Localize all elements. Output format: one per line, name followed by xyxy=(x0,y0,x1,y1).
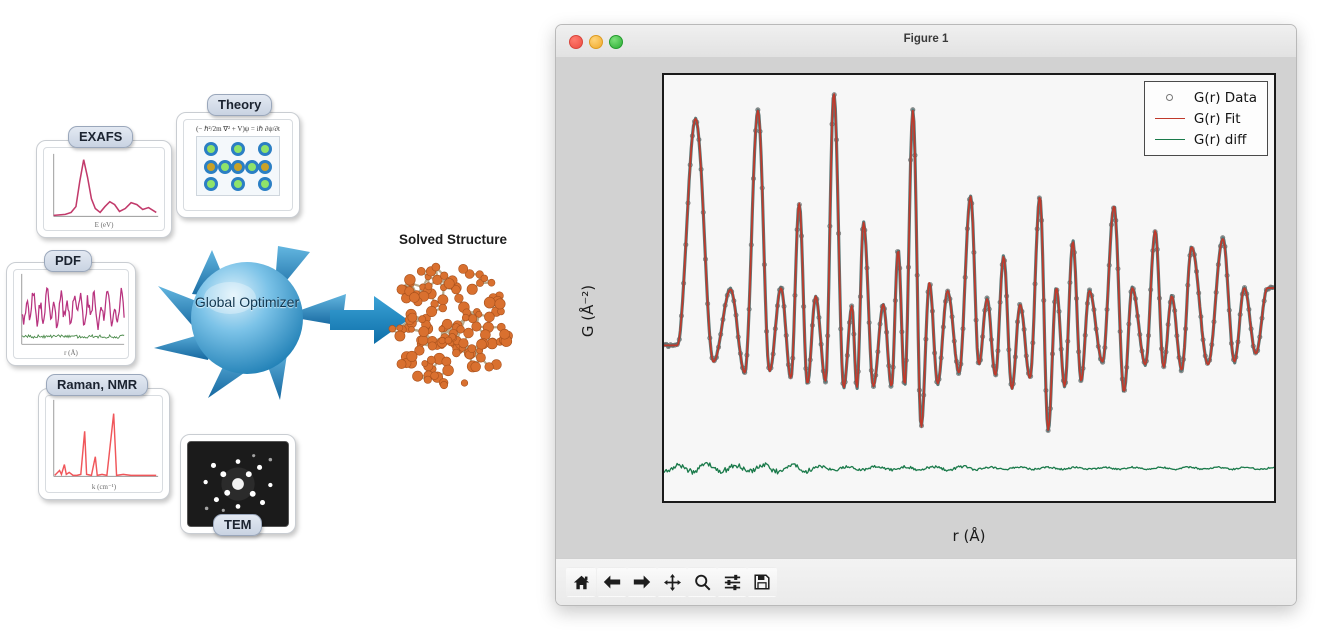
legend-item-data: G(r) Data xyxy=(1153,87,1257,108)
global-optimizer-burst: Global Optimizer xyxy=(132,190,362,440)
raman-axis-label: k (cm⁻¹) xyxy=(46,483,162,491)
window-titlebar[interactable]: Figure 1 xyxy=(556,25,1296,58)
home-icon[interactable] xyxy=(566,567,596,597)
x-tick xyxy=(697,501,698,503)
x-tick xyxy=(1027,501,1028,503)
figure-window: Figure 1 G (Å⁻²) r (Å) G(r) Data G(r) Fi… xyxy=(555,24,1297,606)
sliders-configure-icon[interactable] xyxy=(717,567,747,597)
legend-item-diff: G(r) diff xyxy=(1153,129,1257,150)
solved-structure-label: Solved Structure xyxy=(368,232,538,247)
pan-move-icon[interactable] xyxy=(657,567,687,597)
x-axis-title: r (Å) xyxy=(662,527,1276,545)
plot-axes[interactable]: G(r) Data G(r) Fit G(r) diff −6−4−202468… xyxy=(662,73,1276,503)
floppy-save-icon[interactable] xyxy=(747,567,777,597)
legend-item-fit: G(r) Fit xyxy=(1153,108,1257,129)
node-label-pdf: PDF xyxy=(44,250,92,272)
atomic-cluster-icon xyxy=(368,250,528,400)
node-pdf: r (Å) xyxy=(6,262,136,366)
diff-trace xyxy=(664,463,1274,475)
y-tick xyxy=(662,430,664,431)
x-tick xyxy=(862,501,863,503)
legend-key-marker xyxy=(1153,94,1187,101)
burst-shape xyxy=(132,190,362,440)
legend-label-data: G(r) Data xyxy=(1194,90,1257,106)
y-tick xyxy=(662,266,664,267)
legend-key-fit-line xyxy=(1153,118,1187,119)
legend-label-fit: G(r) Fit xyxy=(1194,111,1241,127)
y-tick xyxy=(662,102,664,103)
node-label-raman-nmr: Raman, NMR xyxy=(46,374,148,396)
y-axis-title: G (Å⁻²) xyxy=(579,285,597,337)
legend-label-diff: G(r) diff xyxy=(1194,132,1246,148)
pdf-curve-icon xyxy=(14,270,128,358)
theory-equation: (− ℏ²/2m ∇² + V)ψ = iℏ ∂ψ/∂t xyxy=(184,125,292,133)
figure-canvas[interactable]: G (Å⁻²) r (Å) G(r) Data G(r) Fit G(r) xyxy=(556,57,1296,559)
y-tick xyxy=(662,485,664,486)
node-label-tem: TEM xyxy=(213,514,262,536)
x-tick xyxy=(1192,501,1193,503)
plot-legend: G(r) Data G(r) Fit G(r) diff xyxy=(1144,81,1268,156)
crystal-lattice-icon xyxy=(196,136,280,196)
navigation-toolbar[interactable] xyxy=(556,558,1296,605)
x-tick xyxy=(779,501,780,503)
y-tick xyxy=(662,321,664,322)
forward-arrow-icon[interactable] xyxy=(627,567,657,597)
x-tick xyxy=(944,501,945,503)
x-tick xyxy=(1274,501,1275,503)
magnifier-zoom-icon[interactable] xyxy=(687,567,717,597)
back-arrow-icon[interactable] xyxy=(597,567,627,597)
y-tick xyxy=(662,157,664,158)
legend-key-diff-line xyxy=(1153,139,1187,140)
matplotlib-figure: G (Å⁻²) r (Å) G(r) Data G(r) Fit G(r) xyxy=(566,63,1286,559)
window-title: Figure 1 xyxy=(556,33,1296,45)
technique-fusion-diagram: E (eV) EXAFS (− ℏ²/2m ∇² + V)ψ = iℏ ∂ψ/∂… xyxy=(0,0,540,640)
node-label-theory: Theory xyxy=(207,94,272,116)
pdf-axis-label: r (Å) xyxy=(14,349,128,357)
pdf-plot-inner: r (Å) xyxy=(13,269,129,359)
y-tick xyxy=(662,212,664,213)
y-tick xyxy=(662,375,664,376)
node-label-exafs: EXAFS xyxy=(68,126,133,148)
x-tick xyxy=(1109,501,1110,503)
